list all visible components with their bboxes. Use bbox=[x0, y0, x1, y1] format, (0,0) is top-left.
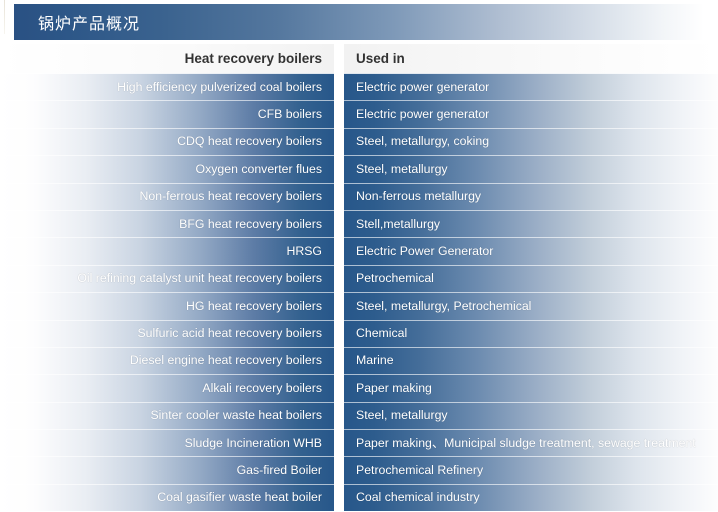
table-row: Sludge Incineration WHB Paper making、Mun… bbox=[0, 429, 718, 456]
column-header-label: Used in bbox=[356, 52, 405, 66]
cell-boiler-label: Gas-fired Boiler bbox=[237, 464, 322, 476]
column-divider bbox=[334, 265, 344, 292]
cell-used-in: Non-ferrous metallurgy bbox=[344, 183, 718, 210]
column-divider bbox=[334, 237, 344, 264]
column-divider bbox=[334, 484, 344, 511]
cell-boiler: High efficiency pulverized coal boilers bbox=[0, 73, 334, 100]
cell-used-in-label: Petrochemical Refinery bbox=[356, 464, 483, 476]
cell-used-in-label: Electric power generator bbox=[356, 81, 489, 93]
table-row: BFG heat recovery boilers Stell,metallur… bbox=[0, 210, 718, 237]
cell-boiler: Diesel engine heat recovery boilers bbox=[0, 347, 334, 374]
cell-used-in: Stell,metallurgy bbox=[344, 210, 718, 237]
cell-used-in-label: Marine bbox=[356, 354, 394, 366]
cell-boiler: Oxygen converter flues bbox=[0, 155, 334, 182]
cell-boiler: Sludge Incineration WHB bbox=[0, 429, 334, 456]
table-row: Coal gasifier waste heat boiler Coal che… bbox=[0, 484, 718, 511]
cell-used-in-label: Stell,metallurgy bbox=[356, 218, 440, 230]
cell-used-in-label: Non-ferrous metallurgy bbox=[356, 190, 481, 202]
cell-used-in: Steel, metallurgy bbox=[344, 402, 718, 429]
cell-boiler-label: Non-ferrous heat recovery boilers bbox=[140, 190, 322, 202]
cell-used-in: Coal chemical industry bbox=[344, 484, 718, 511]
cell-boiler-label: Diesel engine heat recovery boilers bbox=[130, 354, 322, 366]
table-row: HRSG Electric Power Generator bbox=[0, 237, 718, 264]
column-divider bbox=[334, 320, 344, 347]
cell-boiler: Oil refining catalyst unit heat recovery… bbox=[0, 265, 334, 292]
cell-used-in-label: Paper making bbox=[356, 382, 432, 394]
cell-used-in-label: Steel, metallurgy bbox=[356, 409, 448, 421]
column-divider bbox=[334, 347, 344, 374]
cell-boiler-label: Sinter cooler waste heat boilers bbox=[150, 409, 322, 421]
cell-used-in-label: Steel, metallurgy bbox=[356, 163, 448, 175]
cell-boiler: Gas-fired Boiler bbox=[0, 456, 334, 483]
table-row: Sulfuric acid heat recovery boilers Chem… bbox=[0, 320, 718, 347]
column-divider bbox=[334, 183, 344, 210]
cell-boiler: Alkali recovery boilers bbox=[0, 374, 334, 401]
cell-used-in: Electric Power Generator bbox=[344, 237, 718, 264]
cell-boiler-label: Sulfuric acid heat recovery boilers bbox=[137, 327, 322, 339]
column-divider bbox=[334, 155, 344, 182]
cell-used-in-label: Electric Power Generator bbox=[356, 245, 493, 257]
slide-canvas: 锅炉产品概况 Heat recovery boilers Used in Hig… bbox=[0, 0, 718, 512]
cell-boiler: Non-ferrous heat recovery boilers bbox=[0, 183, 334, 210]
cell-used-in-label: Steel, metallurgy, coking bbox=[356, 135, 489, 147]
table-row: Sinter cooler waste heat boilers Steel, … bbox=[0, 402, 718, 429]
left-edge-guide bbox=[4, 0, 5, 34]
column-divider bbox=[334, 292, 344, 319]
title-bar: 锅炉产品概况 bbox=[14, 4, 704, 40]
cell-boiler-label: Oil refining catalyst unit heat recovery… bbox=[77, 272, 322, 284]
column-header-label: Heat recovery boilers bbox=[185, 52, 322, 66]
cell-used-in: Steel, metallurgy bbox=[344, 155, 718, 182]
column-divider bbox=[334, 100, 344, 127]
cell-used-in: Steel, metallurgy, coking bbox=[344, 128, 718, 155]
cell-used-in: Paper making、Municipal sludge treatment,… bbox=[344, 429, 718, 456]
page-title: 锅炉产品概况 bbox=[38, 10, 140, 34]
column-divider bbox=[334, 402, 344, 429]
cell-used-in-label: Steel, metallurgy, Petrochemical bbox=[356, 300, 531, 312]
table-row: Alkali recovery boilers Paper making bbox=[0, 374, 718, 401]
table-row: Non-ferrous heat recovery boilers Non-fe… bbox=[0, 183, 718, 210]
cell-boiler-label: CDQ heat recovery boilers bbox=[177, 135, 322, 147]
cell-boiler: Coal gasifier waste heat boiler bbox=[0, 484, 334, 511]
cell-used-in-label: Electric power generator bbox=[356, 108, 489, 120]
cell-boiler-label: Coal gasifier waste heat boiler bbox=[157, 491, 322, 503]
cell-used-in-label: Petrochemical bbox=[356, 272, 434, 284]
cell-used-in: Electric power generator bbox=[344, 73, 718, 100]
cell-used-in-label: Paper making、Municipal sludge treatment,… bbox=[356, 437, 696, 449]
column-divider bbox=[334, 44, 344, 73]
cell-used-in: Petrochemical bbox=[344, 265, 718, 292]
cell-boiler-label: CFB boilers bbox=[258, 108, 322, 120]
cell-used-in: Petrochemical Refinery bbox=[344, 456, 718, 483]
column-header-used-in: Used in bbox=[344, 44, 718, 73]
column-divider bbox=[334, 210, 344, 237]
cell-boiler: CDQ heat recovery boilers bbox=[0, 128, 334, 155]
cell-boiler-label: High efficiency pulverized coal boilers bbox=[117, 81, 322, 93]
table-row: CDQ heat recovery boilers Steel, metallu… bbox=[0, 128, 718, 155]
column-divider bbox=[334, 73, 344, 100]
cell-used-in: Electric power generator bbox=[344, 100, 718, 127]
table-row: Diesel engine heat recovery boilers Mari… bbox=[0, 347, 718, 374]
table-row: Oxygen converter flues Steel, metallurgy bbox=[0, 155, 718, 182]
table-row: CFB boilers Electric power generator bbox=[0, 100, 718, 127]
cell-boiler-label: BFG heat recovery boilers bbox=[179, 218, 322, 230]
column-divider bbox=[334, 456, 344, 483]
table-header-row: Heat recovery boilers Used in bbox=[0, 44, 718, 73]
cell-boiler-label: Alkali recovery boilers bbox=[202, 382, 322, 394]
cell-used-in: Paper making bbox=[344, 374, 718, 401]
cell-boiler-label: Sludge Incineration WHB bbox=[185, 437, 322, 449]
cell-used-in-label: Chemical bbox=[356, 327, 407, 339]
cell-used-in-label: Coal chemical industry bbox=[356, 491, 480, 503]
table-row: Gas-fired Boiler Petrochemical Refinery bbox=[0, 456, 718, 483]
column-divider bbox=[334, 429, 344, 456]
cell-boiler: Sinter cooler waste heat boilers bbox=[0, 402, 334, 429]
table-row: Oil refining catalyst unit heat recovery… bbox=[0, 265, 718, 292]
cell-boiler: HG heat recovery boilers bbox=[0, 292, 334, 319]
boiler-products-table: Heat recovery boilers Used in High effic… bbox=[0, 44, 718, 512]
column-header-heat-recovery-boilers: Heat recovery boilers bbox=[0, 44, 334, 73]
cell-boiler-label: Oxygen converter flues bbox=[196, 163, 322, 175]
column-divider bbox=[334, 128, 344, 155]
cell-used-in: Marine bbox=[344, 347, 718, 374]
table-row: High efficiency pulverized coal boilers … bbox=[0, 73, 718, 100]
cell-boiler-label: HRSG bbox=[286, 245, 322, 257]
table-row: HG heat recovery boilers Steel, metallur… bbox=[0, 292, 718, 319]
cell-boiler-label: HG heat recovery boilers bbox=[186, 300, 322, 312]
cell-boiler: BFG heat recovery boilers bbox=[0, 210, 334, 237]
cell-used-in: Steel, metallurgy, Petrochemical bbox=[344, 292, 718, 319]
column-divider bbox=[334, 374, 344, 401]
cell-boiler: Sulfuric acid heat recovery boilers bbox=[0, 320, 334, 347]
cell-boiler: CFB boilers bbox=[0, 100, 334, 127]
cell-used-in: Chemical bbox=[344, 320, 718, 347]
cell-boiler: HRSG bbox=[0, 237, 334, 264]
